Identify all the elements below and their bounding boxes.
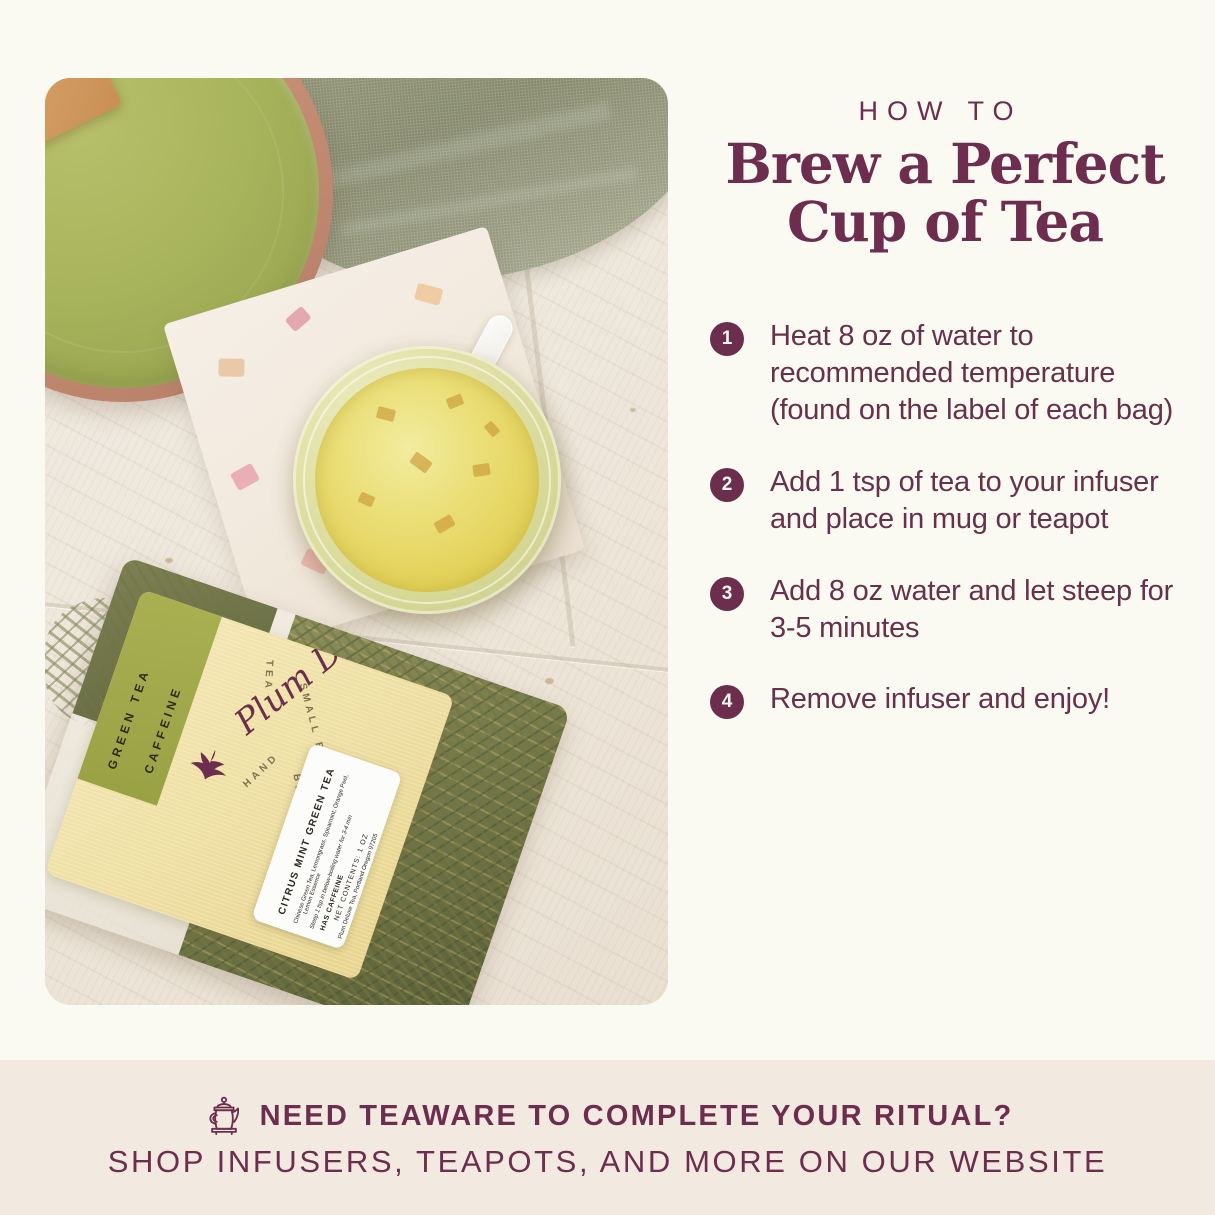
teapot-icon — [202, 1096, 246, 1138]
hero-photo: GREEN TEA CAFFEINE TEA SMALL BATCH HAND … — [45, 78, 668, 1005]
steps-list: 1 Heat 8 oz of water to recommended temp… — [710, 318, 1180, 720]
step-text: Remove infuser and enjoy! — [770, 681, 1110, 718]
page-title: Brew a Perfect Cup of Tea — [710, 135, 1180, 252]
step-number-badge: 2 — [710, 468, 744, 502]
wood-speck — [165, 558, 173, 563]
footer-line-1: NEED TEAWARE TO COMPLETE YOUR RITUAL? — [260, 1100, 1014, 1133]
poster-canvas: GREEN TEA CAFFEINE TEA SMALL BATCH HAND … — [0, 0, 1215, 1215]
step-text: Add 8 oz water and let steep for 3-5 min… — [770, 573, 1180, 648]
eyebrow-label: HOW TO — [710, 96, 1180, 127]
label-arc-hand: HAND — [241, 751, 281, 790]
list-item: 2 Add 1 tsp of tea to your infuser and p… — [710, 464, 1180, 539]
step-text: Heat 8 oz of water to recommended temper… — [770, 318, 1180, 430]
footer-banner: NEED TEAWARE TO COMPLETE YOUR RITUAL? SH… — [0, 1060, 1215, 1215]
list-item: 4 Remove infuser and enjoy! — [710, 681, 1180, 719]
cup-rim — [303, 356, 551, 604]
wood-speck — [545, 678, 554, 684]
footer-line-2: SHOP INFUSERS, TEAPOTS, AND MORE ON OUR … — [108, 1144, 1108, 1180]
footer-primary-row: NEED TEAWARE TO COMPLETE YOUR RITUAL? — [202, 1096, 1014, 1138]
plum-deluxe-bird-logo — [182, 742, 237, 789]
step-number-badge: 1 — [710, 322, 744, 356]
step-number-badge: 3 — [710, 577, 744, 611]
caffeine-band-label: CAFFEINE — [141, 684, 184, 776]
wood-speck — [630, 408, 636, 412]
glass-teacup — [293, 346, 561, 614]
instructions-column: HOW TO Brew a Perfect Cup of Tea 1 Heat … — [710, 96, 1180, 753]
page-title-line-1: Brew a Perfect — [725, 131, 1164, 196]
list-item: 1 Heat 8 oz of water to recommended temp… — [710, 318, 1180, 430]
list-item: 3 Add 8 oz water and let steep for 3-5 m… — [710, 573, 1180, 648]
step-text: Add 1 tsp of tea to your infuser and pla… — [770, 464, 1180, 539]
step-number-badge: 4 — [710, 685, 744, 719]
page-title-line-2: Cup of Tea — [787, 189, 1103, 254]
